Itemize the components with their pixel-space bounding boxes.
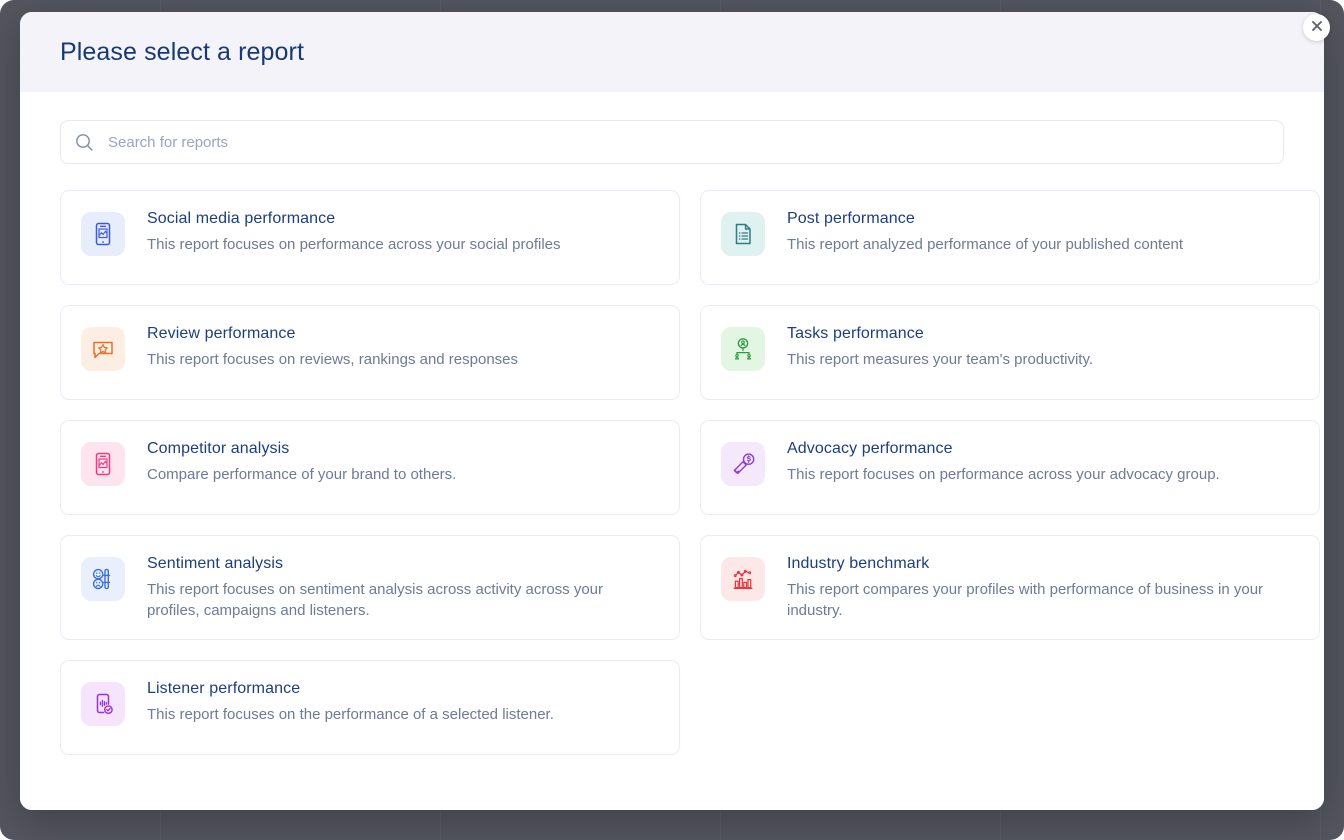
- modal-body: Social media performance This report foc…: [20, 92, 1324, 810]
- search-bar[interactable]: [60, 120, 1284, 164]
- report-card-sentiment-analysis[interactable]: Sentiment analysis This report focuses o…: [60, 535, 680, 640]
- report-card-text: Social media performance This report foc…: [147, 209, 561, 256]
- modal-header: Please select a report: [20, 12, 1324, 92]
- report-card-text: Advocacy performance This report focuses…: [787, 439, 1220, 486]
- report-card-tasks-performance[interactable]: Tasks performance This report measures y…: [700, 305, 1320, 400]
- report-card-industry-benchmark[interactable]: Industry benchmark This report compares …: [700, 535, 1320, 640]
- report-card-text: Listener performance This report focuses…: [147, 679, 554, 726]
- report-description: This report focuses on reviews, rankings…: [147, 350, 518, 371]
- report-card-social-media-performance[interactable]: Social media performance This report foc…: [60, 190, 680, 285]
- sentiment-faces-sliders-icon: [81, 557, 125, 601]
- report-card-text: Industry benchmark This report compares …: [787, 554, 1292, 621]
- report-card-text: Review performance This report focuses o…: [147, 324, 518, 371]
- report-title: Tasks performance: [787, 325, 1093, 343]
- close-button[interactable]: [1303, 14, 1330, 41]
- search-input[interactable]: [106, 133, 1269, 152]
- report-title: Competitor analysis: [147, 440, 456, 458]
- report-title: Listener performance: [147, 680, 554, 698]
- report-title: Industry benchmark: [787, 555, 1292, 573]
- page-title: Please select a report: [60, 38, 304, 67]
- report-card-text: Tasks performance This report measures y…: [787, 324, 1093, 371]
- report-card-advocacy-performance[interactable]: Advocacy performance This report focuses…: [700, 420, 1320, 515]
- report-selection-modal: Please select a report: [20, 12, 1324, 810]
- search-icon: [75, 133, 94, 152]
- soundwave-check-icon: [81, 682, 125, 726]
- report-description: This report measures your team's product…: [787, 350, 1093, 371]
- mobile-chart-icon: [81, 212, 125, 256]
- report-grid: Social media performance This report foc…: [40, 190, 1304, 755]
- report-description: This report focuses on the performance o…: [147, 705, 554, 726]
- report-description: This report analyzed performance of your…: [787, 235, 1183, 256]
- report-card-text: Sentiment analysis This report focuses o…: [147, 554, 652, 621]
- report-description: This report focuses on performance acros…: [787, 465, 1220, 486]
- report-card-review-performance[interactable]: Review performance This report focuses o…: [60, 305, 680, 400]
- mobile-chart-pink-icon: [81, 442, 125, 486]
- report-title: Advocacy performance: [787, 440, 1220, 458]
- report-title: Post performance: [787, 210, 1183, 228]
- report-title: Social media performance: [147, 210, 561, 228]
- report-card-text: Post performance This report analyzed pe…: [787, 209, 1183, 256]
- speech-bubble-star-icon: [81, 327, 125, 371]
- report-card-text: Competitor analysis Compare performance …: [147, 439, 456, 486]
- report-description: This report focuses on sentiment analysi…: [147, 580, 652, 621]
- document-list-icon: [721, 212, 765, 256]
- report-description: This report focuses on performance acros…: [147, 235, 561, 256]
- report-description: This report compares your profiles with …: [787, 580, 1292, 621]
- megaphone-dollar-icon: [721, 442, 765, 486]
- report-card-competitor-analysis[interactable]: Competitor analysis Compare performance …: [60, 420, 680, 515]
- report-title: Review performance: [147, 325, 518, 343]
- report-description: Compare performance of your brand to oth…: [147, 465, 456, 486]
- bar-chart-trend-icon: [721, 557, 765, 601]
- report-card-listener-performance[interactable]: Listener performance This report focuses…: [60, 660, 680, 755]
- close-icon: [1310, 19, 1324, 36]
- report-card-post-performance[interactable]: Post performance This report analyzed pe…: [700, 190, 1320, 285]
- org-chart-users-icon: [721, 327, 765, 371]
- report-title: Sentiment analysis: [147, 555, 652, 573]
